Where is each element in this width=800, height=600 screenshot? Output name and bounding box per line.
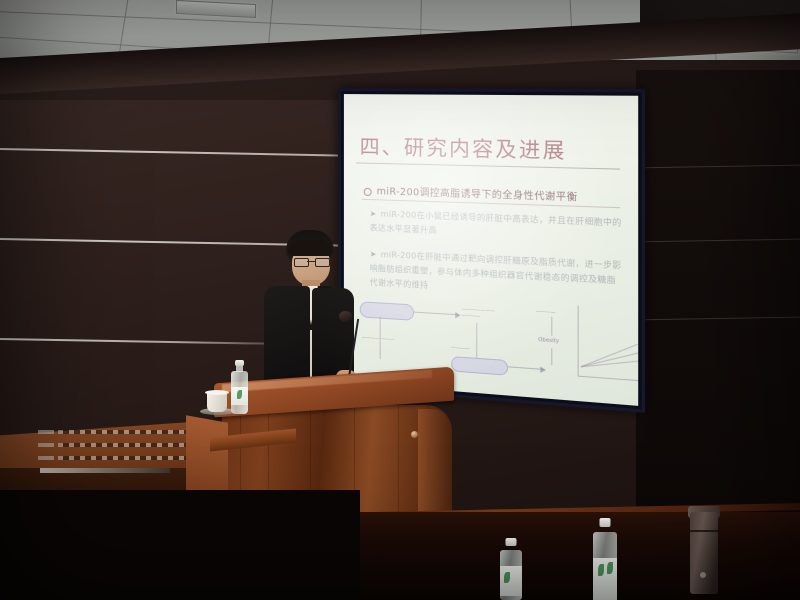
diagram-label-3: ———— [451, 346, 470, 353]
slide-bullet-1: miR-200调控高脂诱导下的全身性代谢平衡 [364, 183, 623, 205]
desk-drawer-rail [40, 468, 170, 473]
slide-bullet-3-text: miR-200在肝脏中通过靶向调控肝糖原及脂质代谢，进一步影响脂肪组织重塑，参与… [370, 250, 622, 290]
diagram-line-plot [578, 306, 639, 382]
projected-slide: 四、研究内容及进展 miR-200调控高脂诱导下的全身性代谢平衡 ➤miR-20… [344, 94, 638, 406]
diagram-label-5: Obesity [538, 337, 559, 345]
paper-cup [207, 392, 227, 412]
diagram-connector-2 [476, 323, 477, 358]
water-bottle-left [500, 538, 522, 600]
right-wall [636, 70, 800, 520]
lecture-hall-photo: 四、研究内容及进展 miR-200调控高脂诱导下的全身性代谢平衡 ➤miR-20… [0, 0, 800, 600]
slide-title-rule [356, 162, 620, 169]
diagram-label-1: ——————————— [462, 307, 517, 323]
paper-cup-rim [205, 390, 229, 395]
slide-bullet-2-text: miR-200在小鼠已经诱导的肝脏中高表达，并且在肝细胞中的表达水平显著升高 [370, 209, 622, 235]
diagram-node-1 [360, 301, 414, 320]
diagram-arrow-1 [414, 312, 459, 316]
projection-screen: 四、研究内容及进展 miR-200调控高脂诱导下的全身性代谢平衡 ➤miR-20… [338, 88, 645, 413]
eyeglasses-icon [294, 258, 328, 265]
thermos-badge [700, 572, 706, 578]
diagram-label-4: ———— [536, 309, 556, 316]
diagram-node-2 [451, 356, 508, 376]
thermos-ring [690, 530, 718, 532]
foreground-table [330, 512, 800, 600]
water-bottle-right [593, 518, 617, 600]
bullet-arrow-icon-2: ➤ [370, 249, 377, 258]
slide-bullet-2: ➤miR-200在小鼠已经诱导的肝脏中高表达，并且在肝细胞中的表达水平显著升高 [370, 207, 625, 246]
podium-lock-knob[interactable] [411, 431, 418, 438]
diagram-connector-3 [551, 317, 552, 336]
presenter-fringe [288, 240, 332, 256]
microphone-icon [339, 311, 352, 322]
diagram-arrow-2 [508, 366, 545, 370]
bullet-arrow-icon-1: ➤ [370, 209, 377, 218]
water-bottle-podium [231, 360, 248, 414]
foreground-shadow [0, 490, 360, 600]
slide-title: 四、研究内容及进展 [360, 130, 567, 164]
diagram-connector-4 [551, 348, 552, 365]
diagram-label-2: ———— ——— [362, 336, 395, 344]
bullet-circle-icon [364, 187, 372, 195]
thermos [690, 512, 718, 594]
